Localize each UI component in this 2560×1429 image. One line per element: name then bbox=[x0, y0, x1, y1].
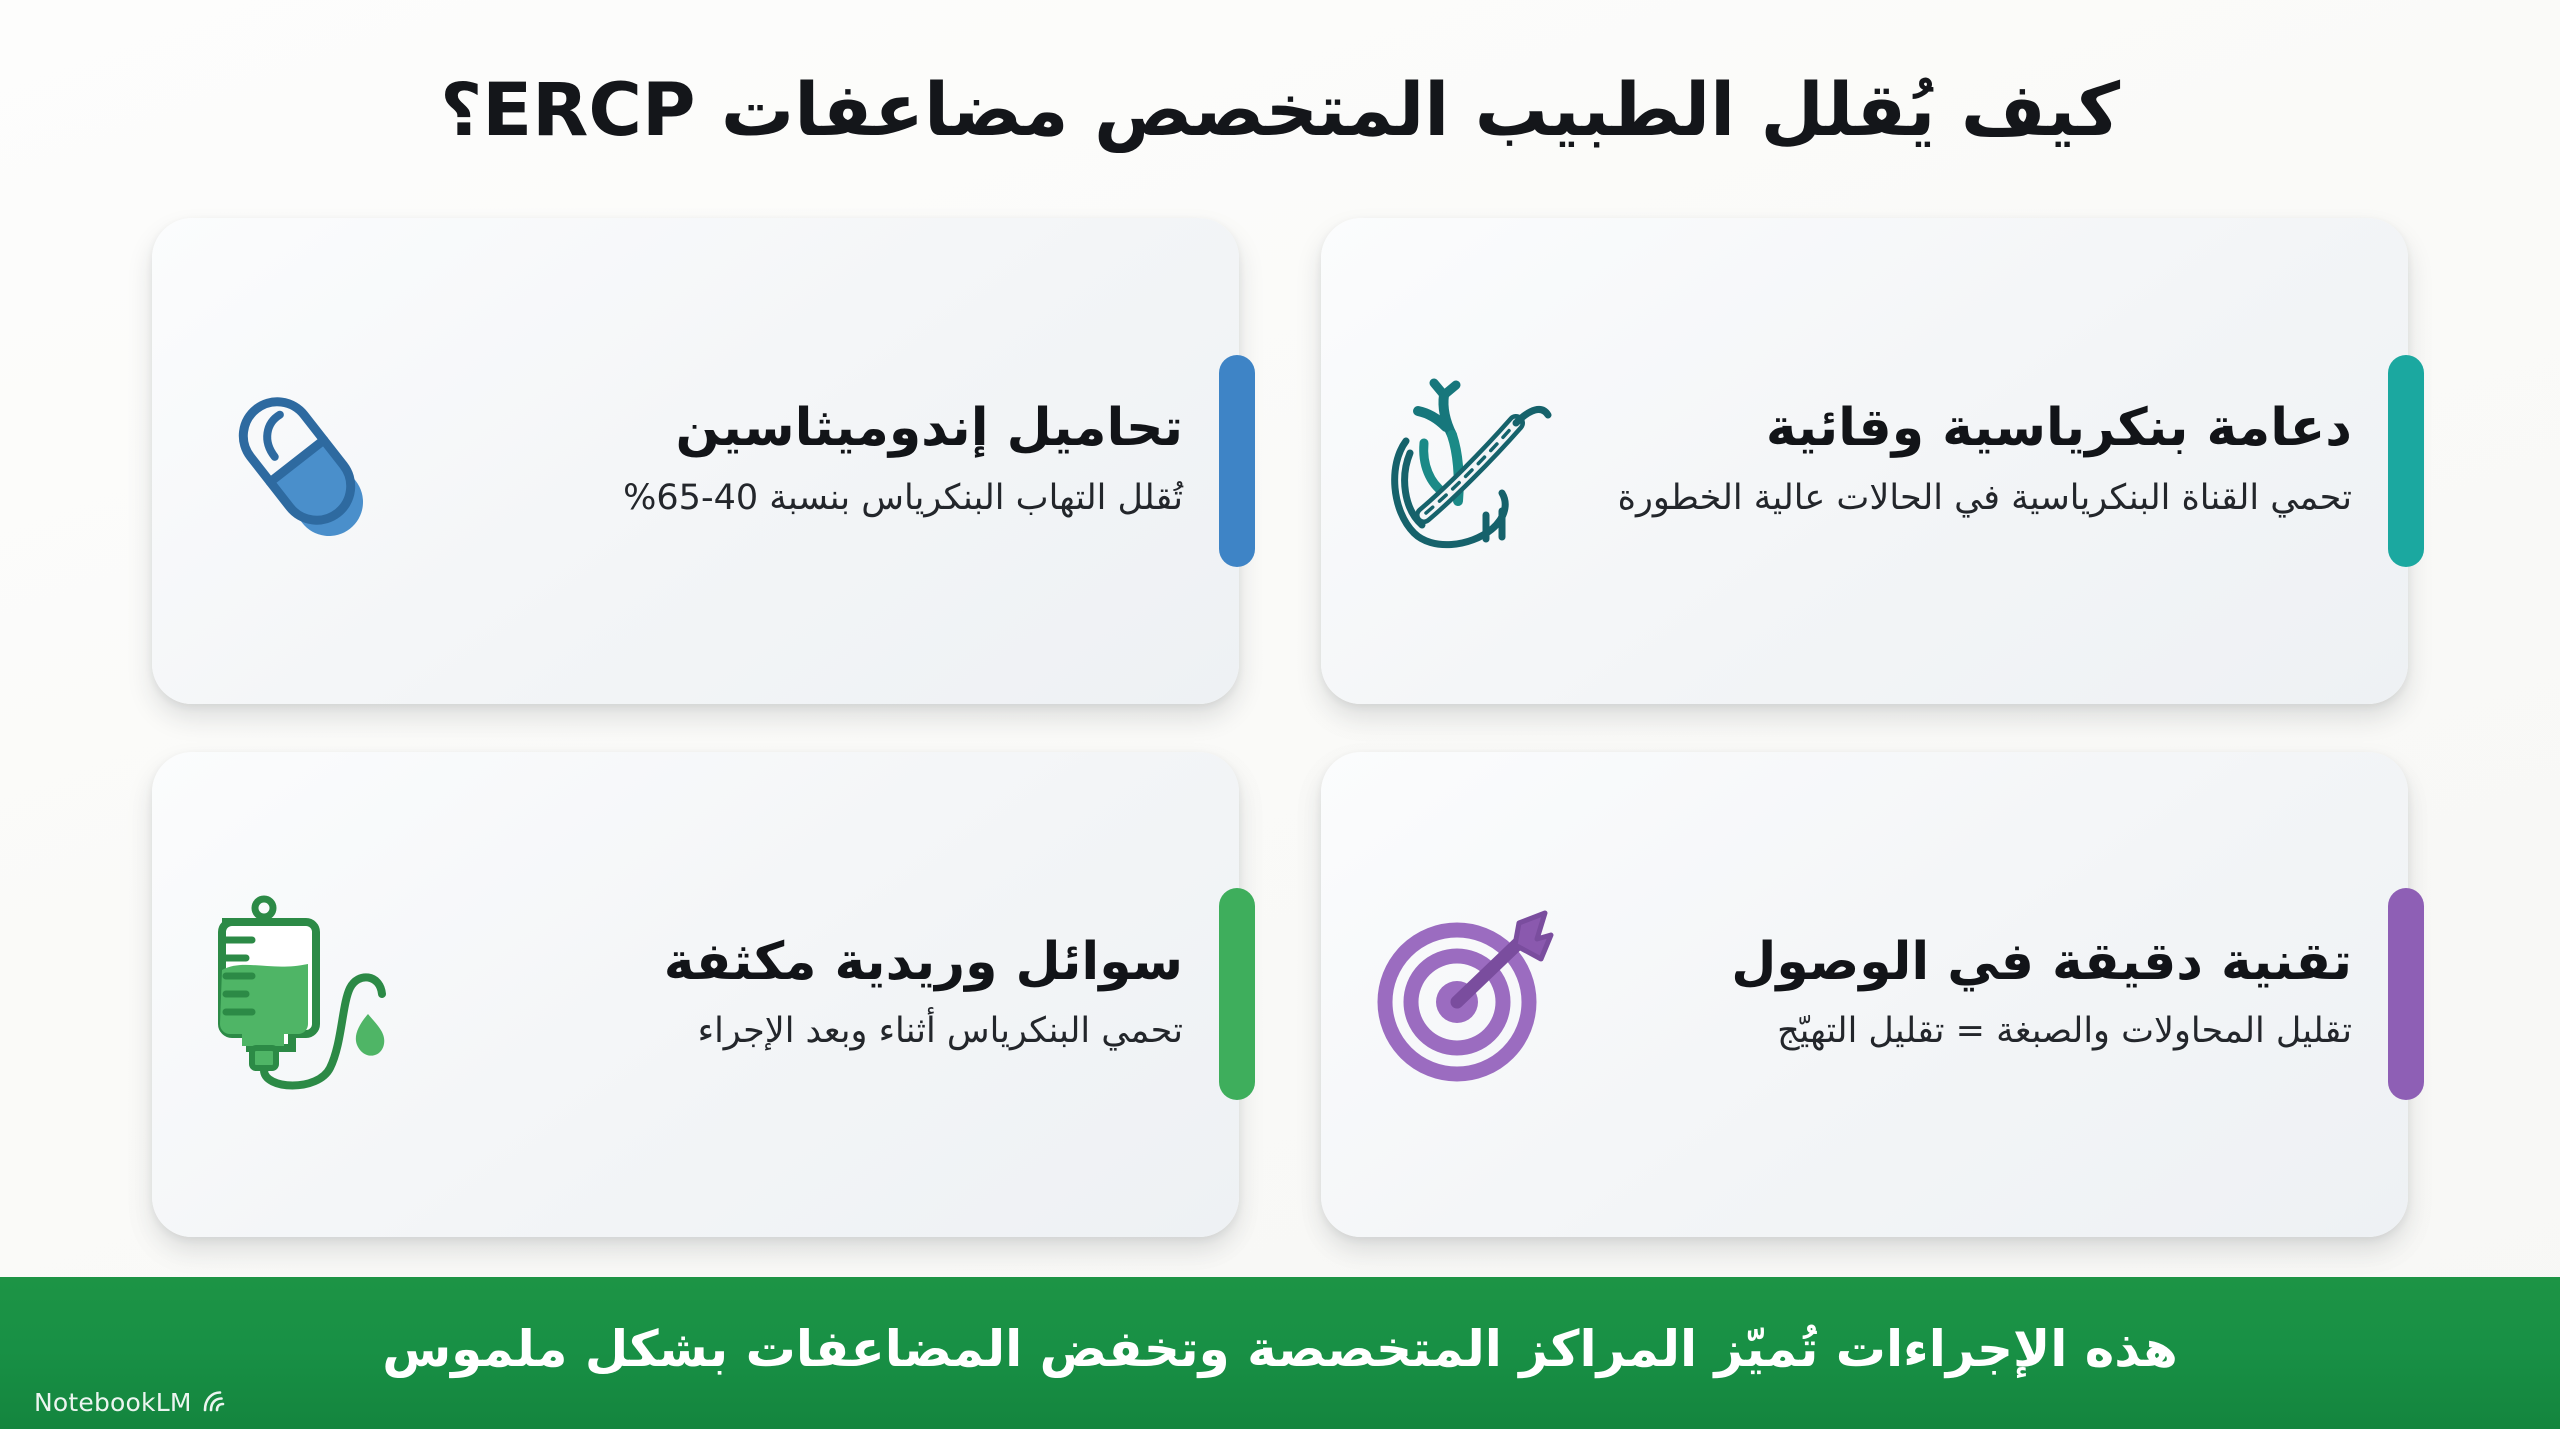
card-indomethacin[interactable]: تحاميل إندوميثاسين تُقلل التهاب البنكريا… bbox=[152, 218, 1239, 704]
footer-message: هذه الإجراءات تُميّز المراكز المتخصصة وت… bbox=[382, 1321, 2178, 1385]
page-title: كيف يُقلل الطبيب المتخصص مضاعفات ERCP؟ bbox=[440, 71, 2120, 151]
cards-grid: دعامة بنكرياسية وقائية تحمي القناة البنك… bbox=[0, 200, 2560, 1277]
card-pancreatic-stent[interactable]: دعامة بنكرياسية وقائية تحمي القناة البنك… bbox=[1321, 218, 2408, 704]
card-title: تحاميل إندوميثاسين bbox=[420, 398, 1183, 459]
notebooklm-logo-icon bbox=[202, 1389, 232, 1417]
footer-banner: هذه الإجراءات تُميّز المراكز المتخصصة وت… bbox=[0, 1277, 2560, 1429]
card-precise-technique[interactable]: تقنية دقيقة في الوصول تقليل المحاولات وا… bbox=[1321, 752, 2408, 1238]
card-subtitle: تقليل المحاولات والصبغة = تقليل التهيّج bbox=[1589, 1007, 2352, 1057]
card-title: تقنية دقيقة في الوصول bbox=[1589, 932, 2352, 993]
card-subtitle: تحمي البنكرياس أثناء وبعد الإجراء bbox=[420, 1007, 1183, 1057]
card-title: سوائل وريدية مكثفة bbox=[420, 932, 1183, 993]
card-subtitle: تُقلل التهاب البنكرياس بنسبة 40-65% bbox=[420, 474, 1183, 524]
card-title: دعامة بنكرياسية وقائية bbox=[1589, 398, 2352, 459]
notebooklm-watermark: NotebookLM bbox=[34, 1388, 232, 1417]
card-subtitle: تحمي القناة البنكرياسية في الحالات عالية… bbox=[1589, 474, 2352, 524]
card-text-block: سوائل وريدية مكثفة تحمي البنكرياس أثناء … bbox=[402, 932, 1193, 1057]
accent-bar-blue bbox=[1219, 355, 1255, 567]
infographic-page: كيف يُقلل الطبيب المتخصص مضاعفات ERCP؟ د… bbox=[0, 0, 2560, 1429]
capsule-pill-icon bbox=[192, 356, 402, 566]
target-arrow-icon bbox=[1361, 889, 1571, 1099]
accent-bar-green bbox=[1219, 888, 1255, 1100]
iv-fluid-bag-icon bbox=[192, 889, 402, 1099]
card-text-block: تحاميل إندوميثاسين تُقلل التهاب البنكريا… bbox=[402, 398, 1193, 523]
card-iv-fluids[interactable]: سوائل وريدية مكثفة تحمي البنكرياس أثناء … bbox=[152, 752, 1239, 1238]
notebooklm-label: NotebookLM bbox=[34, 1388, 192, 1417]
pancreatic-stent-icon bbox=[1361, 356, 1571, 566]
accent-bar-purple bbox=[2388, 888, 2424, 1100]
card-text-block: دعامة بنكرياسية وقائية تحمي القناة البنك… bbox=[1571, 398, 2362, 523]
card-text-block: تقنية دقيقة في الوصول تقليل المحاولات وا… bbox=[1571, 932, 2362, 1057]
title-section: كيف يُقلل الطبيب المتخصص مضاعفات ERCP؟ bbox=[0, 0, 2560, 200]
accent-bar-teal bbox=[2388, 355, 2424, 567]
